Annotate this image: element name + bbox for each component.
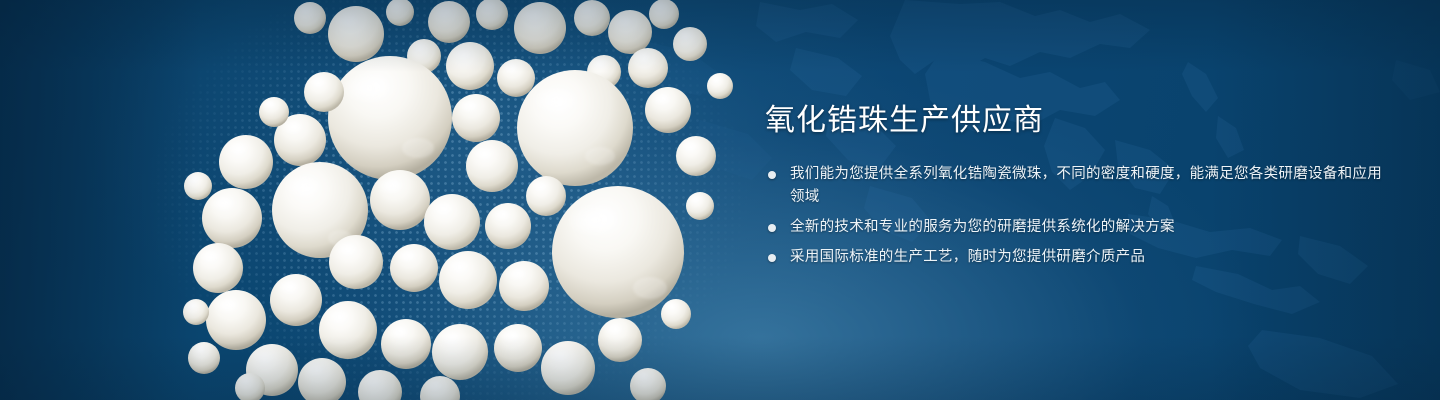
banner-copy: 氧化锆珠生产供应商 我们能为您提供全系列氧化锆陶瓷微珠，不同的密度和硬度，能满足… xyxy=(765,104,1385,269)
bullet-dot-icon xyxy=(768,224,776,232)
hero-banner: 氧化锆珠生产供应商 我们能为您提供全系列氧化锆陶瓷微珠，不同的密度和硬度，能满足… xyxy=(0,0,1440,400)
list-item-label: 采用国际标准的生产工艺，随时为您提供研磨介质产品 xyxy=(790,249,1145,265)
list-item: 采用国际标准的生产工艺，随时为您提供研磨介质产品 xyxy=(765,246,1385,269)
list-item: 我们能为您提供全系列氧化锆陶瓷微珠，不同的密度和硬度，能满足您各类研磨设备和应用… xyxy=(765,163,1385,209)
list-item-label: 全新的技术和专业的服务为您的研磨提供系统化的解决方案 xyxy=(790,219,1175,235)
bullet-dot-icon xyxy=(768,254,776,262)
list-item: 全新的技术和专业的服务为您的研磨提供系统化的解决方案 xyxy=(765,216,1385,239)
bullet-dot-icon xyxy=(768,171,776,179)
list-item-label: 我们能为您提供全系列氧化锆陶瓷微珠，不同的密度和硬度，能满足您各类研磨设备和应用… xyxy=(790,166,1382,205)
feature-list: 我们能为您提供全系列氧化锆陶瓷微珠，不同的密度和硬度，能满足您各类研磨设备和应用… xyxy=(765,163,1385,269)
page-title: 氧化锆珠生产供应商 xyxy=(765,104,1385,137)
